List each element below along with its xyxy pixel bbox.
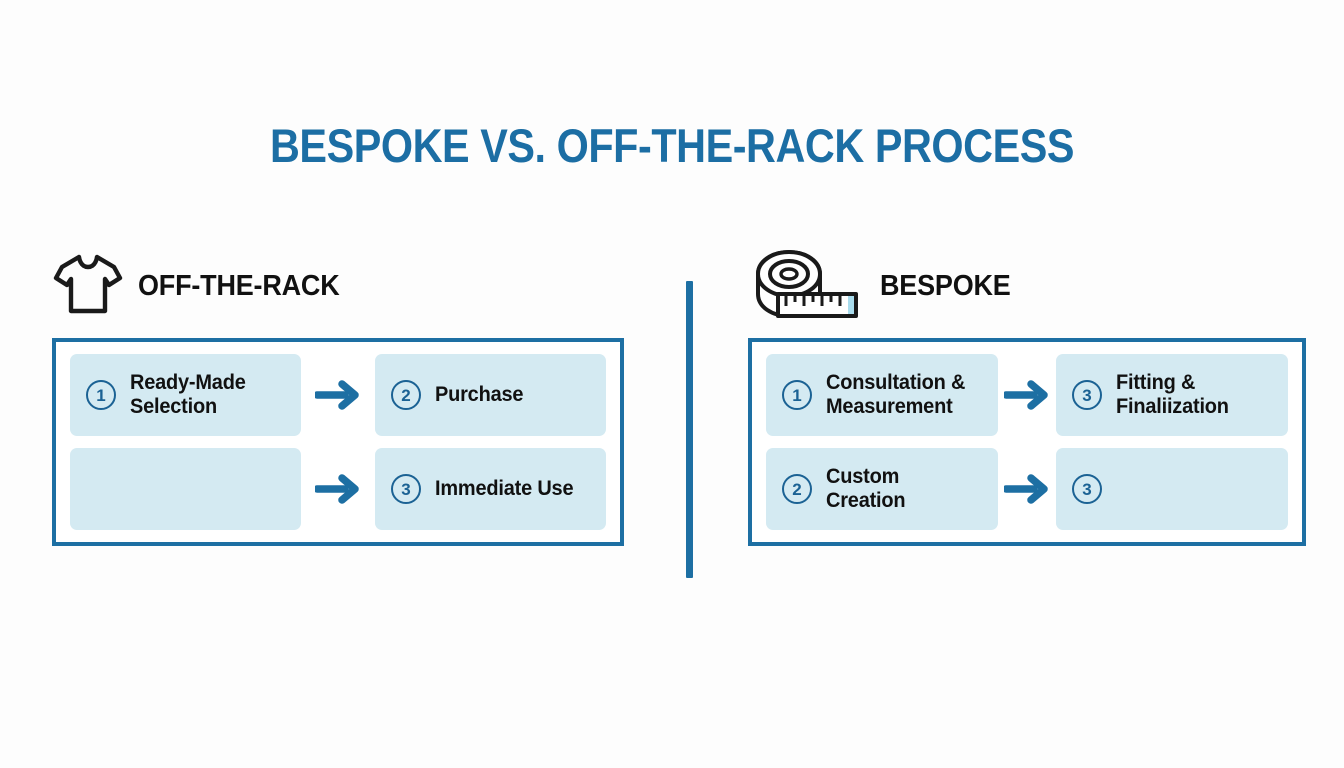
process-row: 3 Immediate Use [70, 448, 606, 530]
step-card-custom-creation[interactable]: 2 Custom Creation [766, 448, 998, 530]
process-row: 2 Custom Creation 3 [766, 448, 1288, 530]
step-badge: 1 [86, 380, 116, 410]
step-card-purchase[interactable]: 2 Purchase [375, 354, 606, 436]
column-title-bespoke: BESPOKE [880, 270, 1011, 303]
step-card-immediate-use[interactable]: 3 Immediate Use [375, 448, 606, 530]
step-badge: 1 [782, 380, 812, 410]
arrow-right-icon [301, 448, 375, 530]
step-label: Immediate Use [435, 477, 573, 501]
step-card-consultation[interactable]: 1 Consultation & Measurement [766, 354, 998, 436]
tape-measure-icon [748, 248, 866, 325]
step-card-ready-made[interactable]: 1 Ready-Made Selection [70, 354, 301, 436]
step-badge: 2 [782, 474, 812, 504]
step-label: Fitting & Finaliization [1116, 371, 1229, 418]
step-card-fitting[interactable]: 3 Fitting & Finaliization [1056, 354, 1288, 436]
column-title-off-the-rack: OFF-THE-RACK [138, 270, 340, 303]
step-badge: 3 [1072, 474, 1102, 504]
process-row: 1 Consultation & Measurement 3 Fitting &… [766, 354, 1288, 436]
arrow-right-icon [301, 354, 375, 436]
page-title: BESPOKE VS. OFF-THE-RACK PROCESS [81, 118, 1264, 173]
panel-off-the-rack: 1 Ready-Made Selection 2 Purchase [52, 338, 624, 546]
step-card-empty[interactable] [70, 448, 301, 530]
arrow-right-icon [998, 448, 1056, 530]
column-bespoke: BESPOKE 1 Consultation & Measurement 3 F… [748, 248, 1306, 546]
step-label: Purchase [435, 383, 523, 407]
column-off-the-rack: OFF-THE-RACK 1 Ready-Made Selection 2 Pu… [52, 248, 624, 546]
process-row: 1 Ready-Made Selection 2 Purchase [70, 354, 606, 436]
step-label: Custom Creation [826, 465, 974, 512]
step-label: Ready-Made Selection [130, 371, 246, 418]
step-card-badge-only[interactable]: 3 [1056, 448, 1288, 530]
step-badge: 3 [391, 474, 421, 504]
arrow-right-icon [998, 354, 1056, 436]
column-header-bespoke: BESPOKE [748, 248, 1306, 324]
vertical-divider [686, 281, 693, 578]
tshirt-icon [52, 251, 124, 322]
column-header-off-the-rack: OFF-THE-RACK [52, 248, 624, 324]
step-badge: 2 [391, 380, 421, 410]
step-badge: 3 [1072, 380, 1102, 410]
panel-bespoke: 1 Consultation & Measurement 3 Fitting &… [748, 338, 1306, 546]
step-label: Consultation & Measurement [826, 371, 965, 418]
